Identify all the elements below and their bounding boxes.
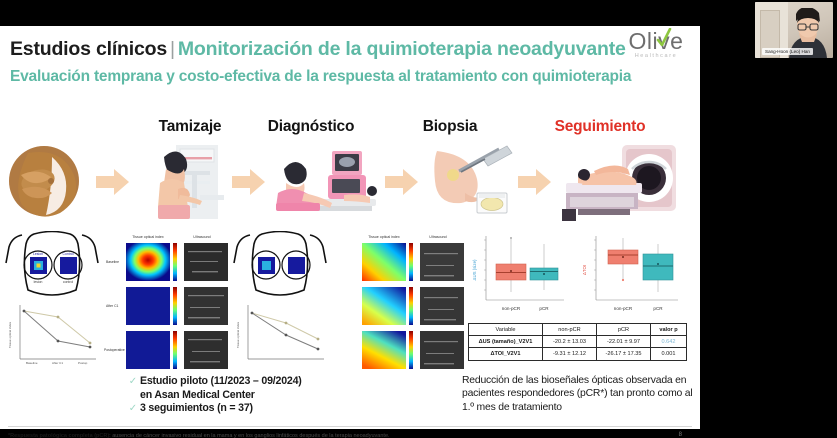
check-icon: ✓ <box>126 375 140 388</box>
table-cell-pvalue: 0.001 <box>651 348 687 360</box>
list-item: ✓ Estudio piloto (11/2023 – 09/2024) <box>126 375 426 388</box>
table-cell-pvalue: 0.642 <box>651 336 687 348</box>
footnote-definition: : ausencia de cáncer invasivo residual e… <box>109 433 389 438</box>
bullet-text-2: 3 seguimientos (n = 37) <box>140 402 253 415</box>
svg-text:Tissue optical index: Tissue optical index <box>368 235 400 239</box>
svg-text:Postop: Postop <box>78 361 88 365</box>
arrow-icon-2 <box>232 167 266 197</box>
bullet-list: ✓ Estudio piloto (11/2023 – 09/2024) en … <box>126 375 426 417</box>
patient-a-torso-and-trend: Lesion Control lesion control Tissue opt… <box>4 231 100 378</box>
title-highlight: Monitorización de la quimioterapia neoad… <box>178 38 626 60</box>
slide-header: Estudios clínicos|Monitorización de la q… <box>10 38 690 86</box>
logo-wordmark: Olive <box>620 28 692 55</box>
svg-text:After C1: After C1 <box>106 304 119 308</box>
patient-b-imaging-panels: Tissue optical index Ultrasound <box>338 231 466 376</box>
breast-self-exam-illustration <box>8 145 80 222</box>
svg-text:pCR: pCR <box>653 306 663 311</box>
table-header-pvalue: valor p <box>651 324 687 336</box>
svg-text:Ultrasound: Ultrasound <box>429 235 446 239</box>
ultrasound-exam-illustration <box>274 143 378 228</box>
table-cell-variable: ΔUS (tamaño)_V2V1 <box>469 336 543 348</box>
table-header-non-pcr: non-pCR <box>543 324 597 336</box>
arrow-icon-4 <box>518 167 552 197</box>
table-cell-variable: ΔTOI_V2V1 <box>469 348 543 360</box>
patient-b-torso-and-trend: Tissue optical index <box>232 231 328 378</box>
title-lead: Estudios clínicos <box>10 38 167 60</box>
patient-a-imaging-panels: Tissue optical index Ultrasound Baseline… <box>102 231 230 376</box>
results-table: Variable non-pCR pCR valor p ΔUS (tamaño… <box>468 323 687 361</box>
stage-label-row: Tamizaje Diagnóstico Biopsia Seguimiento <box>0 118 700 140</box>
svg-text:After C1: After C1 <box>52 361 63 365</box>
olive-leaf-check-icon <box>656 25 672 43</box>
table-row: ΔTOI_V2V1 -9.31 ± 12.12 -26.17 ± 17.35 0… <box>469 348 687 360</box>
workflow-illustration-row <box>0 141 700 227</box>
table-header-row: Variable non-pCR pCR valor p <box>469 324 687 336</box>
screen-root: Estudios clínicos|Monitorización de la q… <box>0 0 837 438</box>
svg-text:non-pCR: non-pCR <box>502 306 521 311</box>
list-item: ✓ 3 seguimientos (n = 37) <box>126 402 426 415</box>
svg-text:Ultrasound: Ultrasound <box>193 235 210 239</box>
table-header-pcr: pCR <box>597 324 651 336</box>
svg-text:pCR: pCR <box>539 306 549 311</box>
svg-text:ΔUS (size): ΔUS (size) <box>472 259 477 281</box>
page-subtitle: Evaluación temprana y costo-efectiva de … <box>10 68 690 86</box>
table-cell-pcr: -26.17 ± 17.35 <box>597 348 651 360</box>
stage-label-biopsia: Biopsia <box>395 118 505 136</box>
table-cell-pcr: -22.01 ± 9.97 <box>597 336 651 348</box>
page-number: 8 <box>679 432 682 438</box>
stage-label-tamizaje: Tamizaje <box>130 118 250 136</box>
boxplot-us-size: non-pCR pCR ΔUS (size) <box>472 236 564 311</box>
footnote: *Respuesta patológica completa (pCR): au… <box>8 432 608 438</box>
svg-text:Tissue optical index: Tissue optical index <box>8 321 12 348</box>
footnote-term: *Respuesta patológica completa (pCR) <box>8 433 109 438</box>
boxplot-toi: non-pCR pCR ΔTOI <box>582 236 678 311</box>
check-icon: ✓ <box>126 402 140 415</box>
svg-text:lesion: lesion <box>34 280 43 284</box>
table-row: ΔUS (tamaño)_V2V1 -20.2 ± 13.03 -22.01 ±… <box>469 336 687 348</box>
table-header-variable: Variable <box>469 324 543 336</box>
bullet-text-1-cont: en Asan Medical Center <box>126 389 426 402</box>
arrow-icon-1 <box>96 167 130 197</box>
presentation-slide: Estudios clínicos|Monitorización de la q… <box>0 26 700 429</box>
stage-label-diagnostico: Diagnóstico <box>246 118 376 136</box>
table-cell-non-pcr: -9.31 ± 12.12 <box>543 348 597 360</box>
arrow-icon-3 <box>385 167 419 197</box>
svg-text:Tissue optical index: Tissue optical index <box>236 321 240 348</box>
svg-text:ΔTOI: ΔTOI <box>582 265 587 275</box>
bullet-text-1: Estudio piloto (11/2023 – 09/2024) <box>140 375 302 388</box>
needle-biopsy-illustration <box>425 145 517 226</box>
footer-divider <box>8 426 692 427</box>
mammography-illustration <box>140 143 230 228</box>
svg-text:Postoperative: Postoperative <box>104 348 125 352</box>
stage-label-seguimiento: Seguimiento <box>530 118 670 136</box>
conclusion-text: Reducción de las bioseñales ópticas obse… <box>462 374 697 414</box>
svg-text:Lesion: Lesion <box>33 252 43 256</box>
olive-healthcare-logo: Olive Healthcare <box>620 28 692 59</box>
svg-text:non-pCR: non-pCR <box>614 306 633 311</box>
boxplot-charts: non-pCR pCR ΔUS (size) <box>468 230 688 320</box>
svg-text:Control: Control <box>63 252 74 256</box>
participant-name-label: Sang-Hoon (Leo) Han <box>762 48 813 55</box>
table-cell-non-pcr: -20.2 ± 13.03 <box>543 336 597 348</box>
svg-text:Baseline: Baseline <box>106 260 119 264</box>
svg-text:Tissue optical index: Tissue optical index <box>132 235 164 239</box>
svg-text:control: control <box>63 280 73 284</box>
page-title: Estudios clínicos|Monitorización de la q… <box>10 38 690 61</box>
svg-text:Baseline: Baseline <box>26 361 38 365</box>
mri-scanner-illustration <box>560 141 680 230</box>
webcam-video-tile[interactable]: Sang-Hoon (Leo) Han <box>755 2 833 58</box>
title-separator: | <box>167 38 178 60</box>
